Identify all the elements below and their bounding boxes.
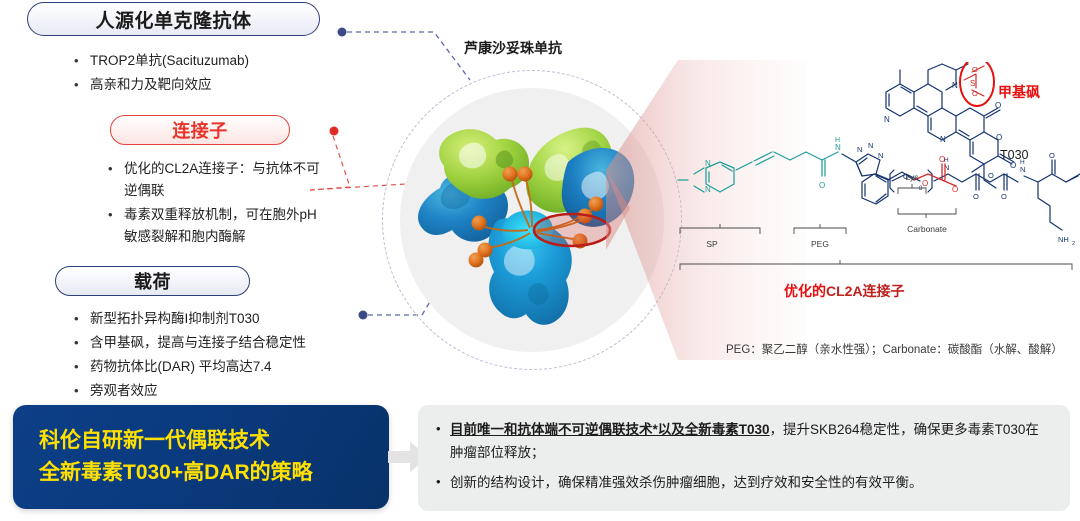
bullet-glyph: • — [436, 418, 450, 440]
list-item-text: 目前唯一和抗体端不可逆偶联技术*以及全新毒素T030，提升SKB264稳定性，确… — [450, 418, 1048, 464]
cl2a-title-highlight: 优化的 — [784, 283, 826, 299]
cl2a-title-rest: CL2A连接子 — [826, 283, 905, 299]
antibody-3d-structure — [382, 70, 682, 370]
conjugation-site-highlight — [534, 214, 610, 246]
payload-code-label: T030 — [1000, 148, 1029, 162]
strategy-line-2: 全新毒素T030+高DAR的策略 — [39, 457, 389, 489]
cl2a-linker-title: 优化的CL2A连接子 — [784, 281, 905, 301]
strategy-line-1: 科伦自研新一代偶联技术 — [39, 425, 389, 457]
list-item: • 创新的结构设计，确保精准强效杀伤肿瘤细胞，达到疗效和安全性的有效平衡。 — [436, 471, 1048, 494]
slide-root: 人源化单克隆抗体 • TROP2单抗(Sacituzumab) • 高亲和力及靶… — [0, 0, 1080, 521]
antibody-molecule-render — [382, 70, 682, 370]
conclusion-callout-box: • 目前唯一和抗体端不可逆偶联技术*以及全新毒素T030，提升SKB264稳定性… — [418, 405, 1070, 511]
bullet-glyph: • — [436, 471, 450, 493]
antibody-name-label: 芦康沙妥珠单抗 — [464, 38, 562, 58]
list-item-text: 创新的结构设计，确保精准强效杀伤肿瘤细胞，达到疗效和安全性的有效平衡。 — [450, 471, 1048, 494]
strategy-callout-box: 科伦自研新一代偶联技术 全新毒素T030+高DAR的策略 — [13, 405, 389, 509]
molecule-footnote: PEG：聚乙二醇（亲水性强）；Carbonate：碳酸酯（水解、酸解） — [726, 341, 1063, 357]
conclusion-emphasis-1: 目前唯一和抗体端不可逆偶联技术*以及全新毒素T030 — [450, 422, 770, 437]
methylsulfone-label: 甲基砜 — [998, 82, 1040, 102]
list-item: • 目前唯一和抗体端不可逆偶联技术*以及全新毒素T030，提升SKB264稳定性… — [436, 418, 1048, 464]
